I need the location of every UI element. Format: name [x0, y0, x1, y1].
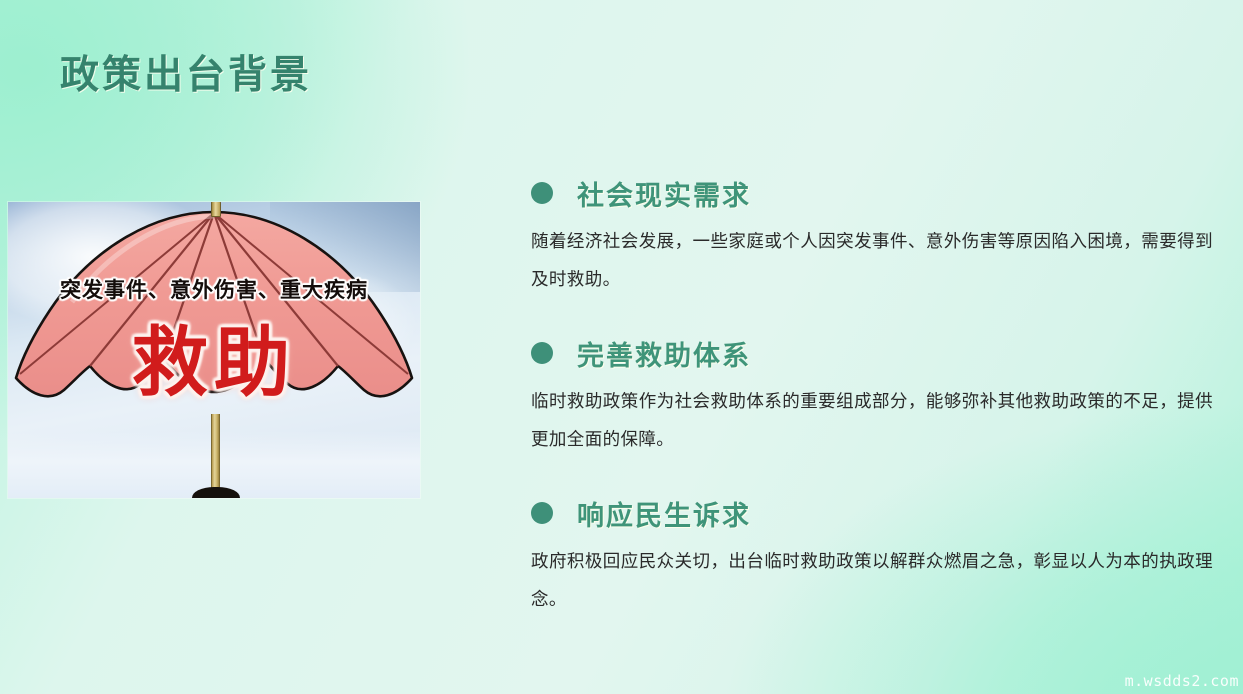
bullet-dot-icon [531, 502, 553, 524]
content-block-title: 完善救助体系 [577, 334, 751, 373]
content-block-body: 随着经济社会发展，一些家庭或个人因突发事件、意外伤害等原因陷入困境，需要得到及时… [531, 222, 1219, 298]
content-block-header: 响应民生诉求 [531, 496, 1219, 530]
slide-canvas: 政策出台背景 [0, 0, 1243, 694]
content-block: 完善救助体系 临时救助政策作为社会救助体系的重要组成部分，能够弥补其他救助政策的… [531, 336, 1219, 458]
content-block-title: 响应民生诉求 [577, 494, 751, 533]
bullet-dot-icon [531, 182, 553, 204]
content-block-body: 临时救助政策作为社会救助体系的重要组成部分，能够弥补其他救助政策的不足，提供更加… [531, 382, 1219, 458]
umbrella-caption-text: 突发事件、意外伤害、重大疾病 [8, 274, 420, 304]
content-block: 响应民生诉求 政府积极回应民众关切，出台临时救助政策以解群众燃眉之急，彰显以人为… [531, 496, 1219, 618]
content-block-header: 社会现实需求 [531, 176, 1219, 210]
site-watermark: m.wsdds2.com [1125, 672, 1239, 690]
content-column: 社会现实需求 随着经济社会发展，一些家庭或个人因突发事件、意外伤害等原因陷入困境… [531, 176, 1219, 618]
page-title: 政策出台背景 [60, 44, 312, 100]
content-block: 社会现实需求 随着经济社会发展，一些家庭或个人因突发事件、意外伤害等原因陷入困境… [531, 176, 1219, 298]
content-block-header: 完善救助体系 [531, 336, 1219, 370]
content-block-body: 政府积极回应民众关切，出台临时救助政策以解群众燃眉之急，彰显以人为本的执政理念。 [531, 542, 1219, 618]
content-block-title: 社会现实需求 [577, 174, 751, 213]
umbrella-relief-image: 突发事件、意外伤害、重大疾病 救助 [8, 202, 420, 498]
umbrella-finial-icon [211, 202, 221, 217]
bullet-dot-icon [531, 342, 553, 364]
umbrella-headline-text: 救助 [8, 320, 420, 408]
